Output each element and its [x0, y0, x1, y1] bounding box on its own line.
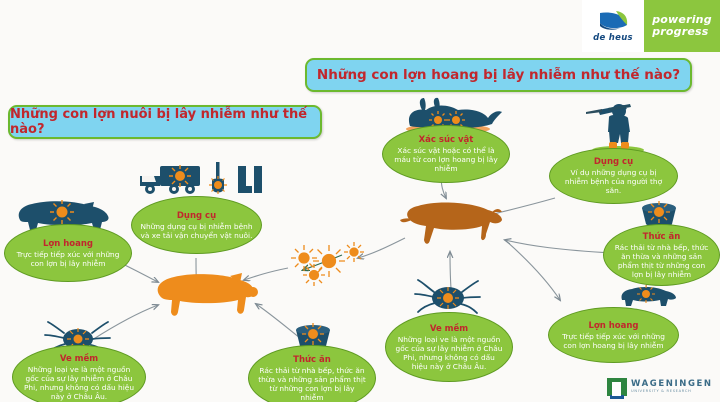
node-body: Rác thải từ nhà bếp, thức ăn thừa và nhữ… — [257, 366, 367, 402]
node-tools-left: Dụng cụ Những dụng cụ bị nhiễm bệnh và x… — [131, 196, 262, 254]
node-tools-hunter: Dụng cụ Ví dụ những dụng cụ bị nhiễm bện… — [549, 148, 678, 204]
node-body: Những dụng cụ bị nhiễm bệnh và xe tải vậ… — [140, 222, 253, 240]
de-heus-logo: de heus — [582, 0, 644, 52]
wageningen-subtitle: UNIVERSITY & RESEARCH — [631, 390, 713, 394]
tagline-line-2: progress — [652, 25, 708, 38]
node-title: Thức ăn — [293, 355, 331, 365]
node-carcass: Xác súc vật Xác súc vật hoặc có thể là m… — [382, 125, 510, 183]
node-body: Rác thải từ nhà bếp, thức ăn thừa và nhữ… — [612, 243, 711, 279]
de-heus-mark-icon — [594, 9, 632, 35]
node-title: Ve mềm — [60, 354, 98, 364]
node-title: Xác súc vật — [419, 135, 474, 145]
powering-progress-tagline: powering progress — [644, 0, 720, 52]
node-pig-left: Lợn hoang Trực tiếp tiếp xúc với những c… — [4, 224, 132, 282]
infographic-canvas: de heus powering progress Những con lợn … — [0, 0, 720, 402]
node-title: Ve mềm — [430, 324, 468, 334]
node-feed-bottom: Thức ăn Rác thải từ nhà bếp, thức ăn thừ… — [248, 345, 376, 402]
node-title: Dụng cụ — [594, 157, 633, 167]
wageningen-name: WAGENINGEN — [631, 380, 713, 389]
node-body: Trực tiếp tiếp xúc với những con lợn hoa… — [557, 332, 670, 350]
wild-boar-silhouette — [396, 198, 508, 254]
title-farm-pigs: Những con lợn nuôi bị lây nhiễm như thế … — [8, 105, 322, 139]
node-body: Những loại ve là một nguồn gốc của sự lâ… — [21, 365, 137, 401]
brand-logo-bar: de heus powering progress — [582, 0, 720, 52]
wageningen-logo: WAGENINGEN UNIVERSITY & RESEARCH — [607, 378, 713, 396]
node-tick-center: Ve mềm Những loại ve là một nguồn gốc củ… — [385, 312, 513, 382]
node-feed-right: Thức ăn Rác thải từ nhà bếp, thức ăn thừ… — [603, 224, 720, 286]
node-wild-boar-right: Lợn hoang Trực tiếp tiếp xúc với những c… — [548, 307, 679, 363]
title-wild-pigs: Những con lợn hoang bị lây nhiễm như thế… — [305, 58, 692, 92]
node-tick-left: Ve mềm Những loại ve là một nguồn gốc củ… — [12, 345, 146, 402]
node-body: Xác súc vật hoặc có thể là máu từ con lợ… — [391, 146, 501, 173]
domestic-pig-silhouette — [150, 270, 262, 326]
node-body: Những loại ve là một nguồn gốc của sự lâ… — [394, 335, 504, 371]
wageningen-mark-icon — [607, 378, 627, 396]
node-body: Ví dụ những dụng cụ bị nhiễm bệnh của ng… — [558, 168, 669, 195]
node-title: Dụng cụ — [177, 211, 216, 221]
node-body: Trực tiếp tiếp xúc với những con lợn bị … — [13, 250, 123, 268]
de-heus-wordmark: de heus — [593, 33, 633, 43]
node-title: Lợn hoang — [43, 239, 93, 249]
node-title: Thức ăn — [643, 232, 681, 242]
virus-particles — [288, 240, 368, 294]
node-title: Lợn hoang — [588, 321, 638, 331]
